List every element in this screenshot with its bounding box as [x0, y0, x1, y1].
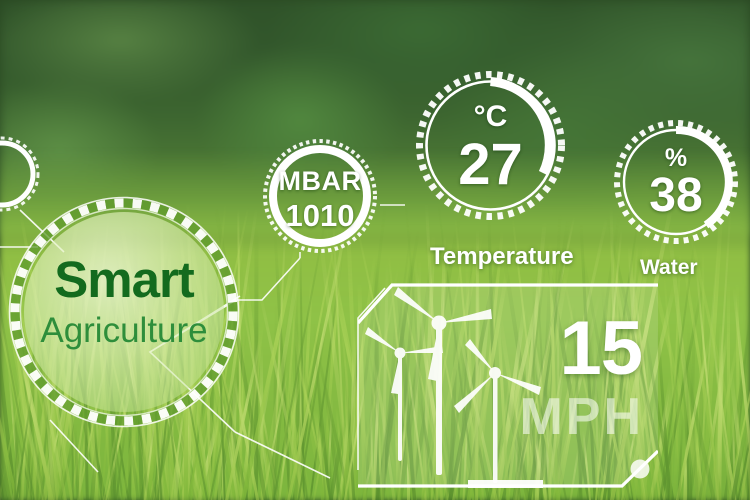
wind-speed-unit: MPH: [519, 391, 644, 443]
brand-line-1: Smart: [8, 254, 240, 305]
gauge-temperature[interactable]: °C 27: [413, 68, 568, 223]
wind-speed-value: 15: [559, 311, 642, 387]
wind-panel-corner-dot: [631, 460, 650, 479]
gauge-pressure-value: 1010: [262, 200, 378, 231]
brand-line-2: Agriculture: [8, 313, 240, 348]
smart-agriculture-hud: MBAR 1010 °C 27 Temperature % 38 Water: [0, 0, 750, 500]
gauge-pressure[interactable]: MBAR 1010: [262, 138, 378, 254]
gauge-water-unit: %: [612, 146, 740, 171]
gauge-pressure-unit: MBAR: [262, 168, 378, 195]
gauge-water-label: Water: [640, 256, 698, 280]
wind-panel-tab: [468, 480, 543, 488]
gauge-temperature-label: Temperature: [430, 243, 574, 271]
gauge-temperature-unit: °C: [413, 102, 568, 132]
gauge-water[interactable]: % 38: [612, 118, 740, 246]
wind-speed-panel[interactable]: 15 MPH: [358, 283, 658, 488]
brand-badge[interactable]: Smart Agriculture: [8, 196, 240, 428]
gauge-water-value: 38: [612, 172, 740, 220]
gauge-temperature-value: 27: [413, 136, 568, 194]
